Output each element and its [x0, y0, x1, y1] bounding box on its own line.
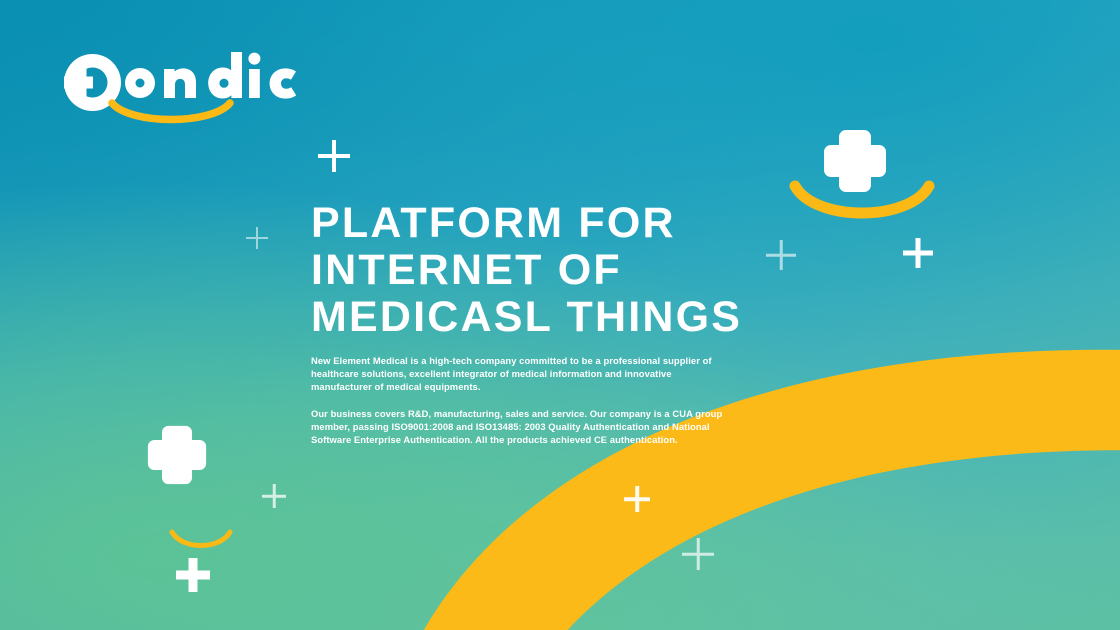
headline-line-3: MEDICASL THINGS [311, 294, 781, 341]
brand-logo[interactable] [62, 52, 302, 130]
smile-arc-bottom-left-icon [168, 528, 234, 552]
plus-mark-7-icon [682, 538, 714, 570]
smile-arc-top-right-icon [789, 180, 935, 222]
description-paragraph-2: Our business covers R&D, manufacturing, … [311, 407, 731, 447]
plus-mark-1-icon [318, 140, 350, 172]
page-title: PLATFORM FOR INTERNET OF MEDICASL THINGS [311, 200, 781, 341]
c-with-cross-icon [62, 54, 121, 111]
plus-mark-4-icon [903, 238, 933, 268]
headline-line-1: PLATFORM FOR [311, 200, 781, 247]
slide-canvas: Condical PLATFORM FOR INTERNET OF MEDICA… [0, 0, 1120, 630]
plus-mark-8-icon [176, 558, 210, 592]
hero-description: New Element Medical is a high-tech compa… [311, 354, 731, 446]
plus-mark-6-icon [262, 484, 286, 508]
condical-logomark [62, 52, 302, 130]
medical-cross-top-right-icon [822, 128, 888, 194]
plus-mark-5-icon [624, 486, 650, 512]
plus-mark-2-icon [246, 227, 268, 249]
condical-wordmark [125, 52, 296, 99]
headline-line-2: INTERNET OF [311, 247, 781, 294]
medical-cross-bottom-left-icon [146, 424, 208, 486]
description-paragraph-1: New Element Medical is a high-tech compa… [311, 354, 731, 394]
